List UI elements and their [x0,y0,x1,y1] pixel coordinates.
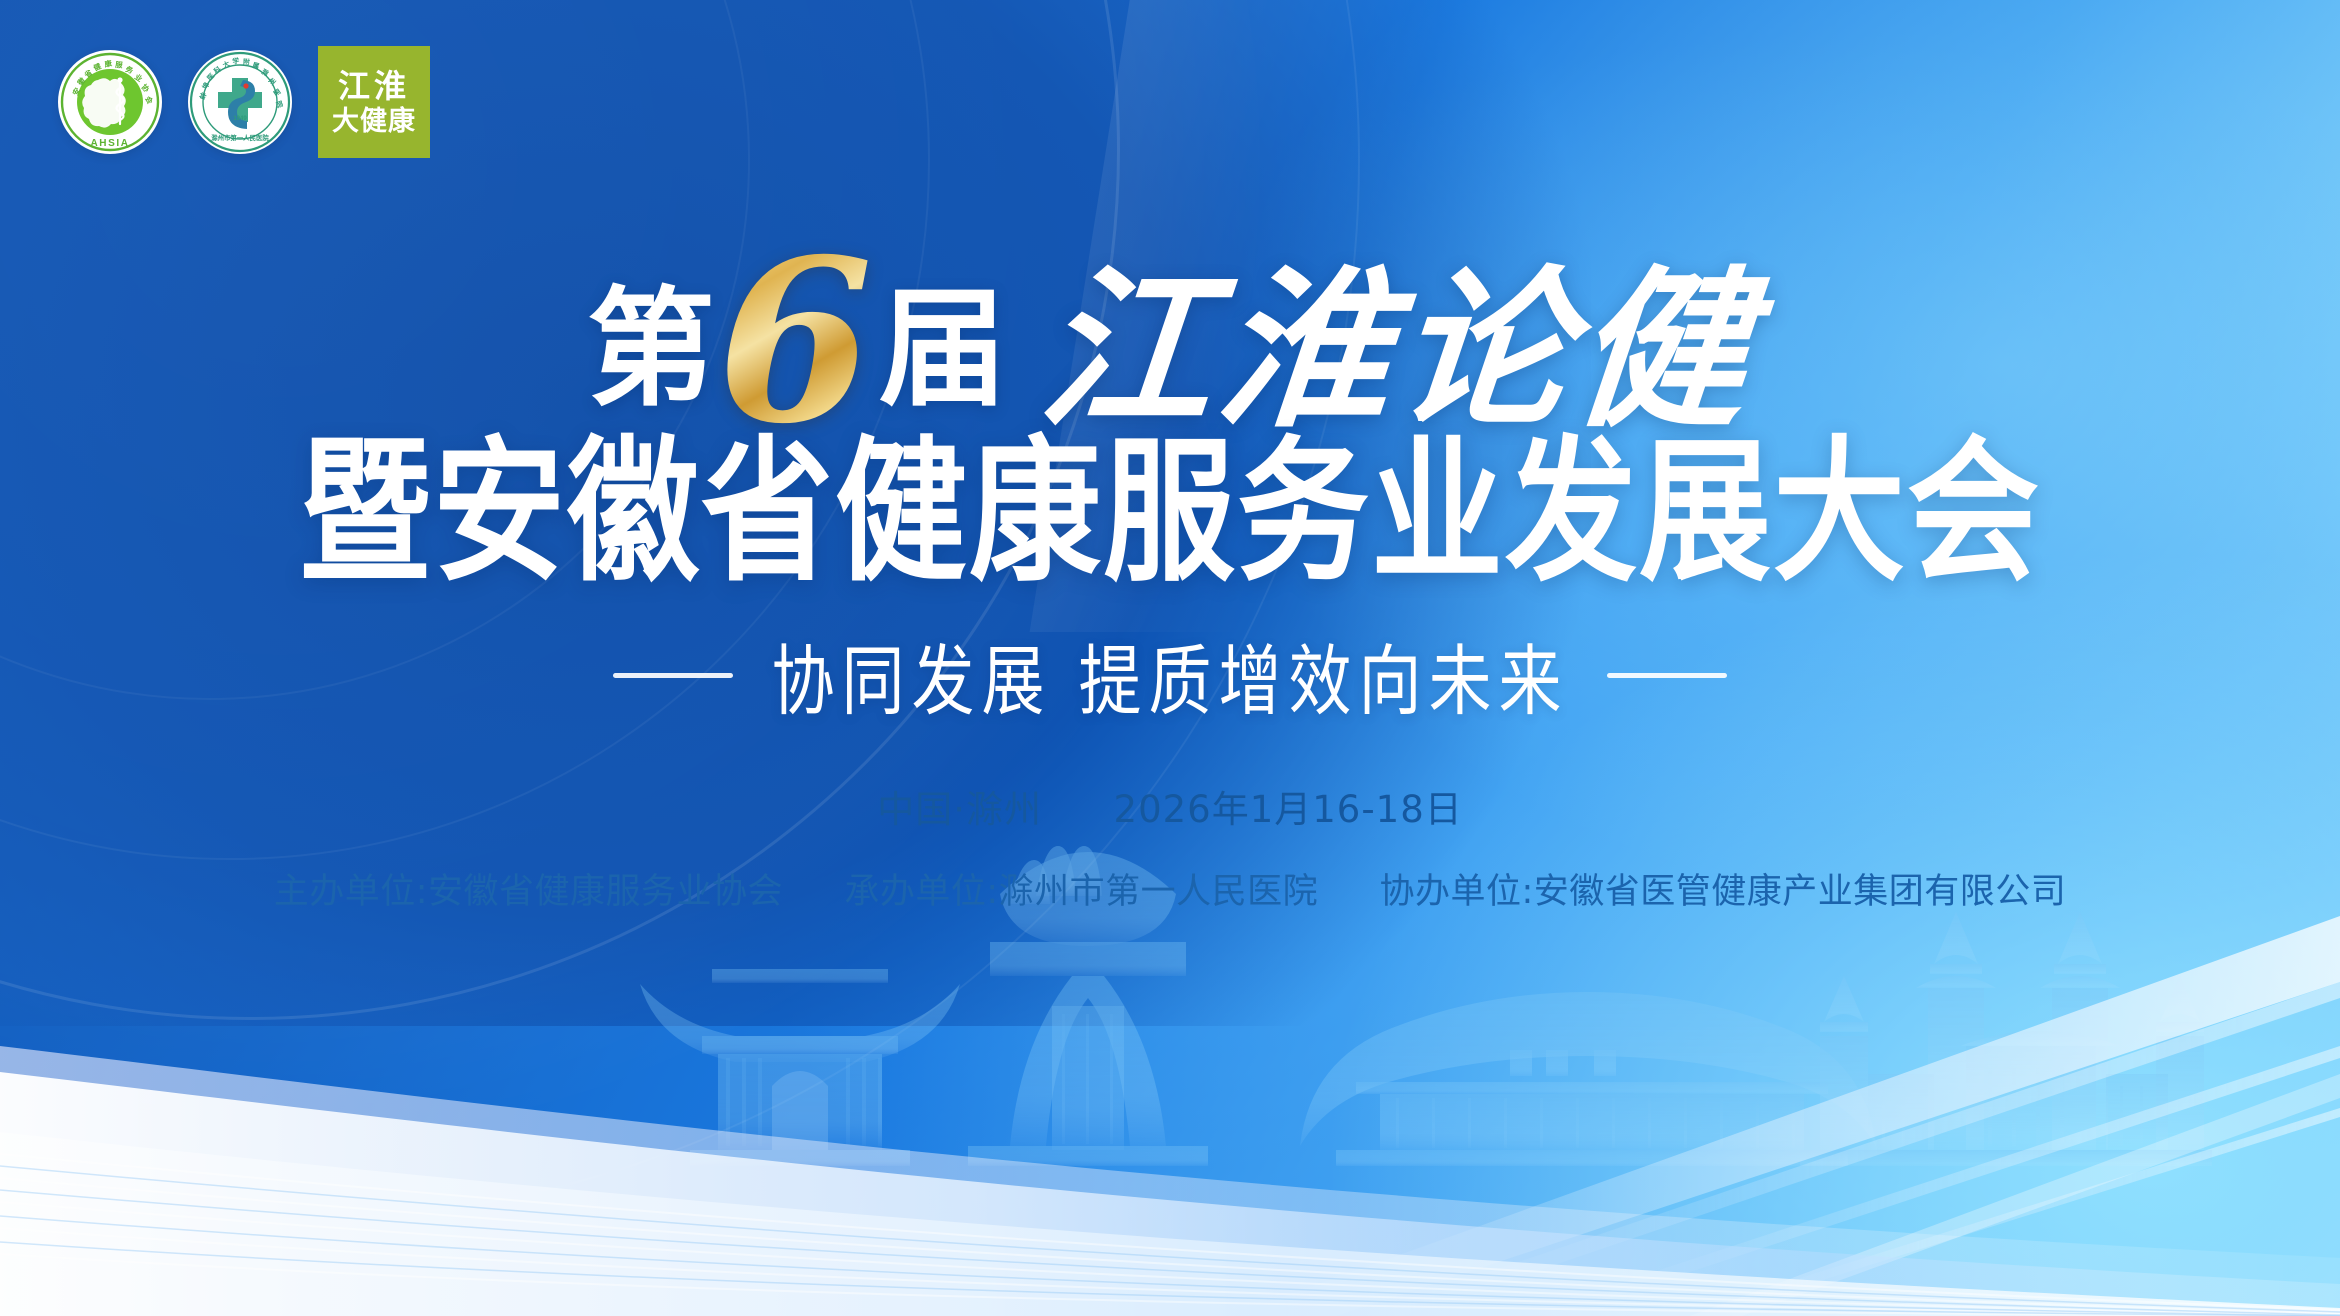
title-suffix: 届 [879,286,1007,414]
support-role: 协办单位: [1379,872,1533,912]
event-meta: 中国·滁州 2026年1月16-18日 [0,779,2340,833]
support-name: 安徽省医管健康产业集团有限公司 [1534,872,2067,912]
logo-jianghuai-big-health: 江淮 大健康 [318,46,430,158]
association-seal-icon: AHSIA 安 徽 省 健 康 服 务 业 协 会 [58,50,162,154]
brush-calligraphy-title: 江淮论健 [1033,264,1760,436]
event-location: 中国·滁州 [877,788,1042,831]
hospital-name-cn: 滁州市第一人民医院 [211,133,269,142]
host-role: 主办单位: [274,872,428,912]
event-dates: 2026年1月16-18日 [1114,788,1463,831]
jianghuai-logo-line2: 大健康 [332,108,416,135]
svg-text:附: 附 [243,57,250,66]
bottom-wave-ribbons [0,886,2340,1316]
title-prefix: 第 [587,286,715,414]
slogan-row: 协同发展 提质增效向未来 [0,630,2340,721]
conference-slogan: 协同发展 提质增效向未来 [771,620,1568,731]
title-block: 第 6 届 江淮论健 暨安徽省健康服务业发展大会 协同发展 提质增效向未来 中国… [0,250,2340,914]
hospital-year: 1949 [233,116,247,122]
logo-row: AHSIA 安 徽 省 健 康 服 务 业 协 会 [58,46,430,158]
conference-secondary-title: 暨安徽省健康服务业发展大会 [0,431,2340,596]
conference-banner: AHSIA 安 徽 省 健 康 服 务 业 协 会 [0,0,2340,1316]
organizer-line: 主办单位:安徽省健康服务业协会 承办单位:滁州市第一人民医院 协办单位:安徽省医… [0,863,2340,914]
edition-number: 6 [717,250,873,434]
coorganizer-role: 承办单位: [844,872,998,912]
logo-chuzhou-first-peoples-hospital: 1949 滁州市第一人民医院 蚌 埠 医 科 大 学 附 属 滁 州 医 院 [188,50,292,154]
host-name: 安徽省健康服务业协会 [428,872,783,912]
association-acronym: AHSIA [90,138,129,149]
coorganizer-name: 滁州市第一人民医院 [999,872,1319,912]
logo-anhui-health-service-association: AHSIA 安 徽 省 健 康 服 务 业 协 会 [58,50,162,154]
hospital-seal-icon: 1949 滁州市第一人民医院 蚌 埠 医 科 大 学 附 属 滁 州 医 院 [188,50,292,154]
jianghuai-logo-line1: 江淮 [338,70,410,102]
title-line-primary: 第 6 届 江淮论健 [0,250,2340,450]
slogan-dash-left [613,673,733,678]
slogan-dash-right [1607,673,1727,678]
